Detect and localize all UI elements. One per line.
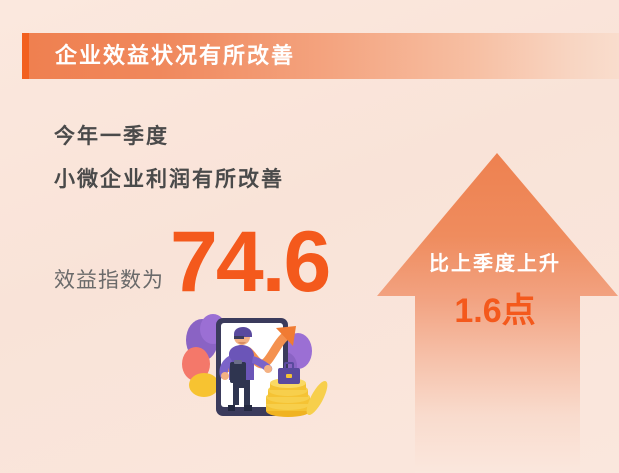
blob-gold-left bbox=[189, 373, 219, 397]
person-hand-left bbox=[221, 372, 229, 380]
up-arrow-callout: 比上季度上升 1.6点 bbox=[370, 150, 619, 473]
index-value-row: 效益指数为 74.6 bbox=[54, 219, 329, 305]
business-growth-illustration bbox=[172, 306, 338, 428]
person-hand-right bbox=[264, 365, 272, 373]
lead-line-period: 今年一季度 bbox=[54, 126, 384, 147]
briefcase-latch bbox=[286, 374, 292, 378]
header-accent-bar bbox=[22, 33, 29, 79]
page-title: 企业效益状况有所改善 bbox=[55, 45, 295, 67]
arrow-delta-value: 1.6点 bbox=[370, 294, 619, 328]
clipboard-clip bbox=[234, 360, 242, 364]
lead-line-statement: 小微企业利润有所改善 bbox=[54, 169, 384, 190]
infographic-poster: 企业效益状况有所改善 今年一季度 小微企业利润有所改善 效益指数为 74.6 bbox=[0, 0, 619, 473]
header-banner: 企业效益状况有所改善 bbox=[22, 33, 619, 79]
index-label: 效益指数为 bbox=[54, 270, 164, 291]
index-value: 74.6 bbox=[170, 219, 329, 305]
person-shoe-left bbox=[228, 405, 235, 411]
person-glasses bbox=[234, 336, 244, 339]
header-bar-fill: 企业效益状况有所改善 bbox=[29, 33, 619, 79]
clipboard bbox=[230, 362, 246, 383]
arrow-text-block: 比上季度上升 1.6点 bbox=[370, 254, 619, 328]
person-shoe-right bbox=[244, 405, 252, 411]
lead-text-block: 今年一季度 小微企业利润有所改善 bbox=[54, 126, 384, 190]
arrow-caption: 比上季度上升 bbox=[370, 254, 619, 274]
